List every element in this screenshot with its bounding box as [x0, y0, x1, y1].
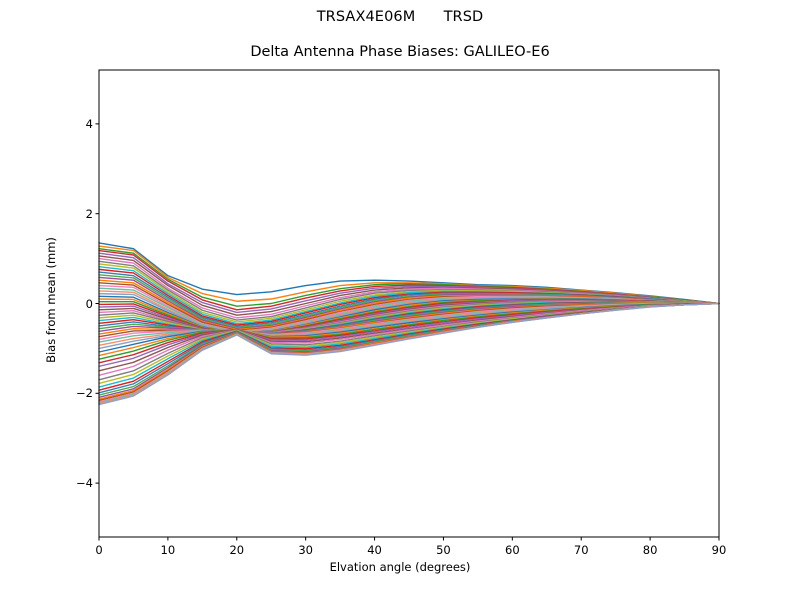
chart-plot-area [0, 0, 800, 600]
x-tick-label: 30 [286, 543, 326, 557]
chart-title: Delta Antenna Phase Biases: GALILEO-E6 [0, 42, 800, 62]
x-tick-label: 0 [79, 543, 119, 557]
data-lines-group [99, 243, 719, 405]
x-tick-label: 10 [148, 543, 188, 557]
x-tick-label: 50 [423, 543, 463, 557]
x-tick-label: 20 [217, 543, 257, 557]
x-axis-label: Elvation angle (degrees) [0, 560, 800, 574]
x-tick-label: 40 [355, 543, 395, 557]
figure-suptitle: TRSAX4E06M TRSD [0, 7, 800, 27]
x-tick-label: 80 [630, 543, 670, 557]
matplotlib-figure: TRSAX4E06M TRSD Delta Antenna Phase Bias… [0, 0, 800, 600]
x-tick-label: 70 [561, 543, 601, 557]
x-tick-label: 90 [699, 543, 739, 557]
y-axis-label: Bias from mean (mm) [44, 0, 62, 600]
x-tick-label: 60 [492, 543, 532, 557]
